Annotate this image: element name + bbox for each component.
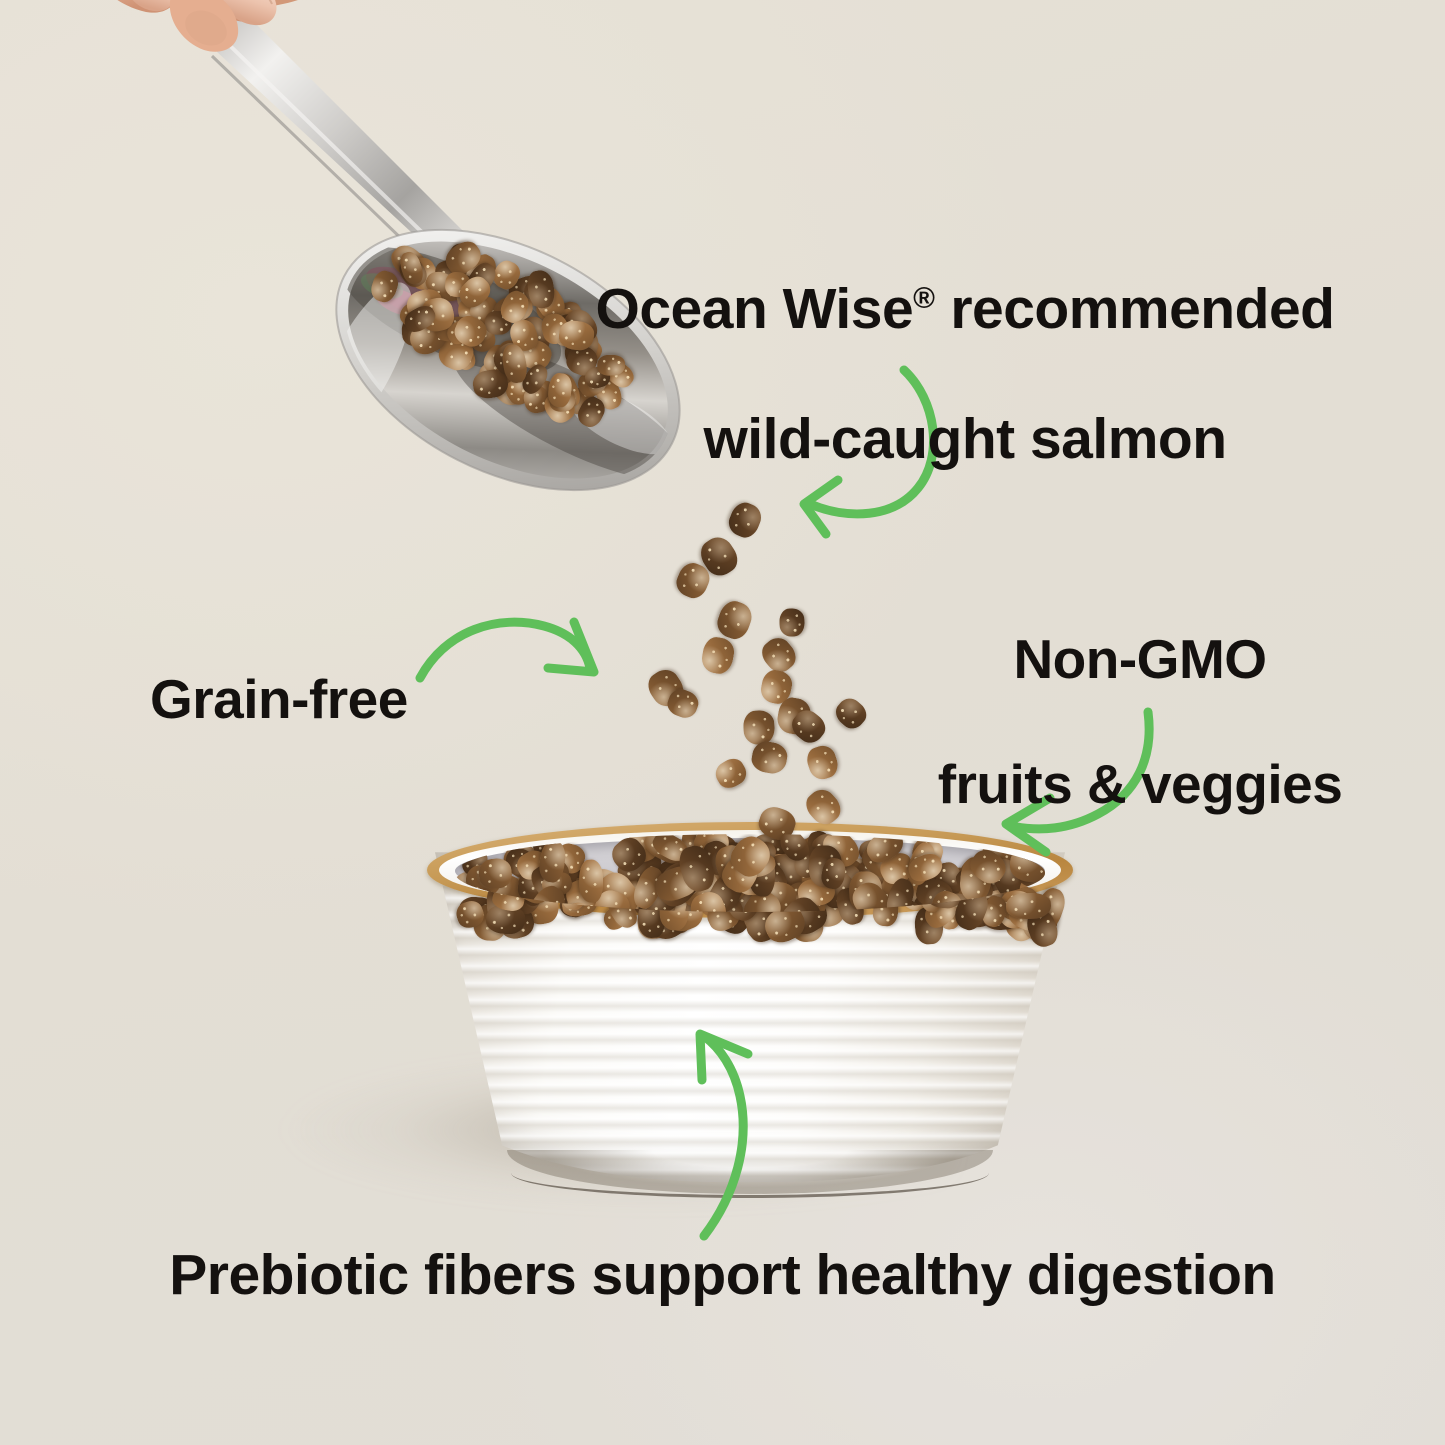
callout-salmon-line2: wild-caught salmon [703,407,1226,471]
infographic-canvas: Ocean Wise® recommended wild-caught salm… [0,0,1445,1445]
callout-grain-free: Grain-free [150,668,470,731]
arrow-to-bowl-body-icon [648,1018,808,1248]
kibble-piece [713,597,755,642]
callout-non-gmo: Non-GMO fruits & veggies [905,565,1375,816]
kibble-piece [743,710,775,745]
kibble-piece [700,635,737,676]
kibble-piece [725,499,766,542]
kibble-piece [711,754,751,793]
kibble-piece [803,742,841,783]
registered-trademark-symbol: ® [913,282,935,315]
callout-non-gmo-line1: Non-GMO [1013,628,1266,690]
callout-prebiotic: Prebiotic fibers support healthy digesti… [120,1243,1325,1308]
kibble-piece [801,784,847,830]
kibble-piece [779,608,805,636]
kibble-piece [750,739,790,776]
callout-salmon-line1-tail: recommended [935,277,1334,341]
callout-salmon: Ocean Wise® recommended wild-caught salm… [540,212,1390,472]
kibble-piece [831,693,871,733]
callout-non-gmo-line2: fruits & veggies [938,753,1343,815]
callout-salmon-line1: Ocean Wise [596,277,914,341]
